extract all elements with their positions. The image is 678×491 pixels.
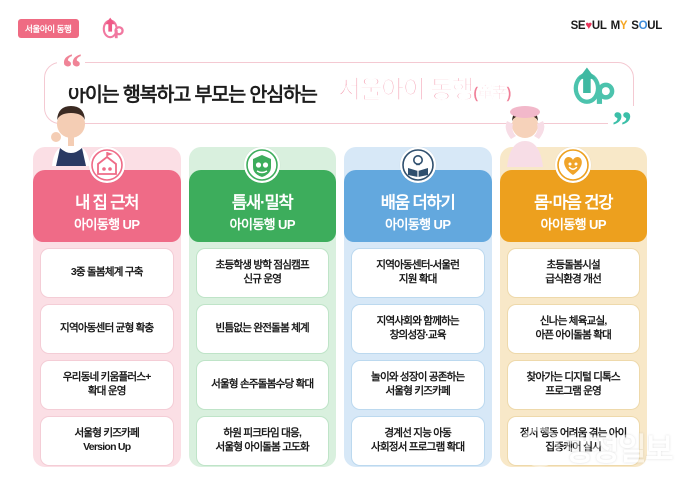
item-label: 지역아동센터 균형 확충 — [60, 322, 153, 336]
shield-icon — [244, 147, 280, 183]
badge-up-arrow-icon — [99, 13, 127, 41]
column-title: 몸·마음 건강 — [534, 194, 612, 212]
item-label: 놀이와 성장이 공존하는서울형 키즈카페 — [371, 371, 464, 399]
brand-badge: 서울아이 동행 — [18, 19, 79, 38]
house-flag-icon — [89, 147, 125, 183]
book-lightbulb-icon — [400, 147, 436, 183]
list-item[interactable]: 지역아동센터-서울런지원 확대 — [351, 248, 485, 298]
column-title: 틈새·밀착 — [232, 194, 293, 212]
item-label: 지역사회와 함께하는창의성장·교육 — [377, 315, 459, 343]
list-item[interactable]: 서울형 키즈카페Version Up — [40, 416, 174, 466]
column-my-neighborhood: 내 집 근처 아이동행 UP 3중 돌봄체계 구축 지역아동센터 균형 확충 우… — [33, 147, 181, 467]
list-item[interactable]: 정서 행동 어려움 겪는 아이집중케어 실시 — [507, 416, 641, 466]
column-title: 배움 더하기 — [381, 194, 455, 212]
item-label: 지역아동센터-서울런지원 확대 — [376, 259, 459, 287]
list-item[interactable]: 놀이와 성장이 공존하는서울형 키즈카페 — [351, 360, 485, 410]
headline-up-logo-icon — [568, 63, 620, 107]
column-items: 지역아동센터-서울런지원 확대 지역사회와 함께하는창의성장·교육 놀이와 성장… — [344, 242, 492, 474]
item-label: 빈틈없는 완전돌봄 체계 — [216, 322, 309, 336]
list-item[interactable]: 서울형 손주돌봄수당 확대 — [196, 360, 330, 410]
smiling-heart-icon — [555, 147, 591, 183]
quote-open-mark: “ — [57, 48, 85, 88]
list-item[interactable]: 지역사회와 함께하는창의성장·교육 — [351, 304, 485, 354]
headline-title-main: 서울아이 동행 — [338, 70, 473, 106]
item-label: 경계선 지능 아동사회정서 프로그램 확대 — [371, 427, 464, 455]
column-items: 초등학생 방학 점심캠프신규 운영 빈틈없는 완전돌봄 체계 서울형 손주돌봄수… — [189, 242, 337, 474]
list-item[interactable]: 초등돌봄시설급식환경 개선 — [507, 248, 641, 298]
list-item[interactable]: 지역아동센터 균형 확충 — [40, 304, 174, 354]
list-item[interactable]: 우리동네 키움플러스+확대 운영 — [40, 360, 174, 410]
item-label: 초등돌봄시설급식환경 개선 — [545, 259, 601, 287]
column-items: 3중 돌봄체계 구축 지역아동센터 균형 확충 우리동네 키움플러스+확대 운영… — [33, 242, 181, 474]
seoul-my-soul-logo: SE♥ULMYSOUL — [571, 20, 662, 32]
column-subtitle: 아이동행 UP — [74, 214, 139, 233]
list-item[interactable]: 찾아가는 디지털 디톡스프로그램 운영 — [507, 360, 641, 410]
brand-badge-label: 서울아이 동행 — [25, 23, 71, 35]
column-subtitle: 아이동행 UP — [230, 214, 295, 233]
list-item[interactable]: 신나는 체육교실,아픈 아이돌봄 확대 — [507, 304, 641, 354]
top-bar: 서울아이 동행 SE♥ULMYSOUL — [0, 0, 678, 52]
list-item[interactable]: 3중 돌봄체계 구축 — [40, 248, 174, 298]
item-label: 찾아가는 디지털 디톡스프로그램 운영 — [527, 371, 620, 399]
quote-close-mark: ” — [608, 106, 634, 146]
list-item[interactable]: 초등학생 방학 점심캠프신규 운영 — [196, 248, 330, 298]
item-label: 초등학생 방학 점심캠프신규 운영 — [216, 259, 309, 287]
column-gap-close-care: 틈새·밀착 아이동행 UP 초등학생 방학 점심캠프신규 운영 빈틈없는 완전돌… — [189, 147, 337, 467]
list-item[interactable]: 경계선 지능 아동사회정서 프로그램 확대 — [351, 416, 485, 466]
item-label: 우리동네 키움플러스+확대 운영 — [63, 371, 151, 399]
kid-photo-right — [489, 99, 561, 167]
item-label: 하원 피크타임 대응,서울형 아이돌봄 고도화 — [216, 427, 309, 455]
headline-title: 서울아이 동행 (童幸) — [338, 70, 510, 106]
column-body-mind-health: 몸·마음 건강 아이동행 UP 초등돌봄시설급식환경 개선 신나는 체육교실,아… — [500, 147, 648, 467]
infographic-root: 서울아이 동행 SE♥ULMYSOUL “ ” 아이는 행복하고 부모는 안심하… — [0, 0, 678, 491]
column-title: 내 집 근처 — [75, 194, 138, 212]
item-label: 서울형 키즈카페Version Up — [74, 427, 139, 455]
headline-lead-text: 아이는 행복하고 부모는 안심하는 — [68, 78, 317, 107]
list-item[interactable]: 빈틈없는 완전돌봄 체계 — [196, 304, 330, 354]
column-items: 초등돌봄시설급식환경 개선 신나는 체육교실,아픈 아이돌봄 확대 찾아가는 디… — [500, 242, 648, 474]
column-subtitle: 아이동행 UP — [541, 214, 606, 233]
item-label: 서울형 손주돌봄수당 확대 — [211, 378, 313, 392]
list-item[interactable]: 하원 피크타임 대응,서울형 아이돌봄 고도화 — [196, 416, 330, 466]
item-label: 3중 돌봄체계 구축 — [71, 266, 143, 280]
item-label: 신나는 체육교실,아픈 아이돌봄 확대 — [535, 315, 611, 343]
column-subtitle: 아이동행 UP — [385, 214, 450, 233]
item-label: 정서 행동 어려움 겪는 아이집중케어 실시 — [520, 427, 627, 455]
program-columns: 내 집 근처 아이동행 UP 3중 돌봄체계 구축 지역아동센터 균형 확충 우… — [33, 147, 647, 467]
column-learning-plus: 배움 더하기 아이동행 UP 지역아동센터-서울런지원 확대 지역사회와 함께하… — [344, 147, 492, 467]
